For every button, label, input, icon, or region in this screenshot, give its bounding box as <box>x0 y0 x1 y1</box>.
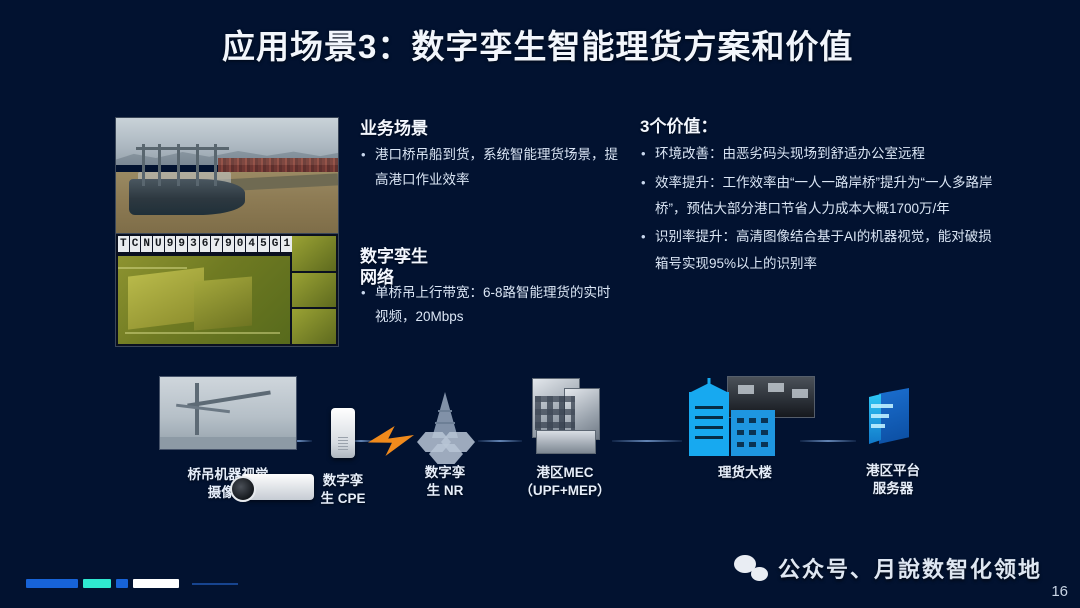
progress-segment <box>116 579 128 588</box>
node-label: 港区MEC （UPF+MEP） <box>510 464 620 500</box>
container-ocr-photo: T C N U 9 9 3 6 7 9 0 4 5 G 1 <box>115 233 339 347</box>
code-char: 1 <box>281 236 292 252</box>
container-thumbnail-column <box>292 236 336 344</box>
container-code-strip: T C N U 9 9 3 6 7 9 0 4 5 G 1 <box>118 236 292 252</box>
container-thumb <box>292 236 336 271</box>
code-char: 5 <box>258 236 269 252</box>
platform-server-icon <box>869 388 917 450</box>
node-label: 港区平台 服务器 <box>838 462 948 498</box>
node-camera[interactable]: 桥吊机器视觉 摄像机 <box>148 376 308 502</box>
cpe-device-icon <box>331 408 355 458</box>
code-char: N <box>141 236 152 252</box>
page-number: 16 <box>1051 583 1068 600</box>
watermark-text: 公众号、月說数智化领地 <box>778 552 1042 584</box>
value-heading: 3个价值： <box>640 116 1000 137</box>
list-item: 识别率提升：高清图像结合基于AI的机器视觉，能对破损箱号实现95%以上的识别率 <box>640 224 1000 277</box>
code-char: 4 <box>246 236 257 252</box>
list-item: 环境改善：由恶劣码头现场到舒适办公室远程 <box>640 141 1000 167</box>
wechat-icon <box>734 555 768 581</box>
code-char: 3 <box>188 236 199 252</box>
network-bullet-list: 单桥吊上行带宽：6-8路智能理货的实时视频，20Mbps <box>360 281 622 331</box>
value-block: 3个价值： 环境改善：由恶劣码头现场到舒适办公室远程 效率提升：工作效率由“一人… <box>640 116 1000 279</box>
business-heading: 业务场景 <box>360 118 622 139</box>
code-char: G <box>270 236 281 252</box>
container-thumb <box>292 273 336 308</box>
code-char: 6 <box>200 236 211 252</box>
node-label: 数字孪 生 NR <box>400 464 490 500</box>
business-bullet-list: 港口桥吊船到货，系统智能理货场景，提高港口作业效率 <box>360 143 622 193</box>
5g-tower-icon <box>419 392 471 448</box>
progress-segment <box>26 579 78 588</box>
node-mec[interactable]: 港区MEC （UPF+MEP） <box>510 374 620 500</box>
code-char: 9 <box>165 236 176 252</box>
value-bullet-list: 环境改善：由恶劣码头现场到舒适办公室远程 效率提升：工作效率由“一人一路岸桥”提… <box>640 141 1000 277</box>
node-nr[interactable]: 数字孪 生 NR <box>400 392 490 500</box>
node-label: 数字孪 生 CPE <box>300 472 386 508</box>
watermark: 公众号、月說数智化领地 <box>734 552 1042 584</box>
photo-gantry-cranes <box>136 144 229 186</box>
list-item: 港口桥吊船到货，系统智能理货场景，提高港口作业效率 <box>360 143 622 193</box>
code-char: T <box>118 236 129 252</box>
code-char: U <box>153 236 164 252</box>
network-block: 数字孪生网络 单桥吊上行带宽：6-8路智能理货的实时视频，20Mbps <box>360 246 622 332</box>
business-scenario-block: 业务场景 港口桥吊船到货，系统智能理货场景，提高港口作业效率 <box>360 118 622 195</box>
progress-indicator[interactable] <box>26 579 238 588</box>
node-office[interactable]: 理货大楼 <box>672 374 818 482</box>
progress-segment <box>83 579 111 588</box>
code-char: 0 <box>235 236 246 252</box>
architecture-diagram: 桥吊机器视觉 摄像机 数字孪 生 CPE 数字孪 生 NR <box>0 368 1080 533</box>
code-char: 7 <box>211 236 222 252</box>
crane-photo-icon <box>159 376 297 450</box>
list-item: 效率提升：工作效率由“一人一路岸桥”提升为“一人多路岸桥”，预估大部分港口节省人… <box>640 170 1000 223</box>
container-main-view <box>118 256 290 344</box>
mec-server-building-icon <box>526 374 604 456</box>
container-thumb <box>292 309 336 344</box>
aerial-port-photo <box>115 117 339 237</box>
tower-building-icon <box>689 392 729 456</box>
node-cpe[interactable]: 数字孪 生 CPE <box>300 408 386 508</box>
code-char: 9 <box>176 236 187 252</box>
page-title: 应用场景3：数字孪生智能理货方案和价值 <box>222 26 922 68</box>
code-char: C <box>130 236 141 252</box>
progress-segment <box>133 579 179 588</box>
node-server[interactable]: 港区平台 服务器 <box>838 388 948 498</box>
code-char: 9 <box>223 236 234 252</box>
list-item: 单桥吊上行带宽：6-8路智能理货的实时视频，20Mbps <box>360 281 622 331</box>
progress-tail <box>192 583 238 585</box>
node-label: 理货大楼 <box>672 464 818 482</box>
slide-canvas: 应用场景3：数字孪生智能理货方案和价值 T C N U 9 9 3 6 7 9 … <box>0 0 1080 608</box>
office-building-icon <box>731 410 775 456</box>
